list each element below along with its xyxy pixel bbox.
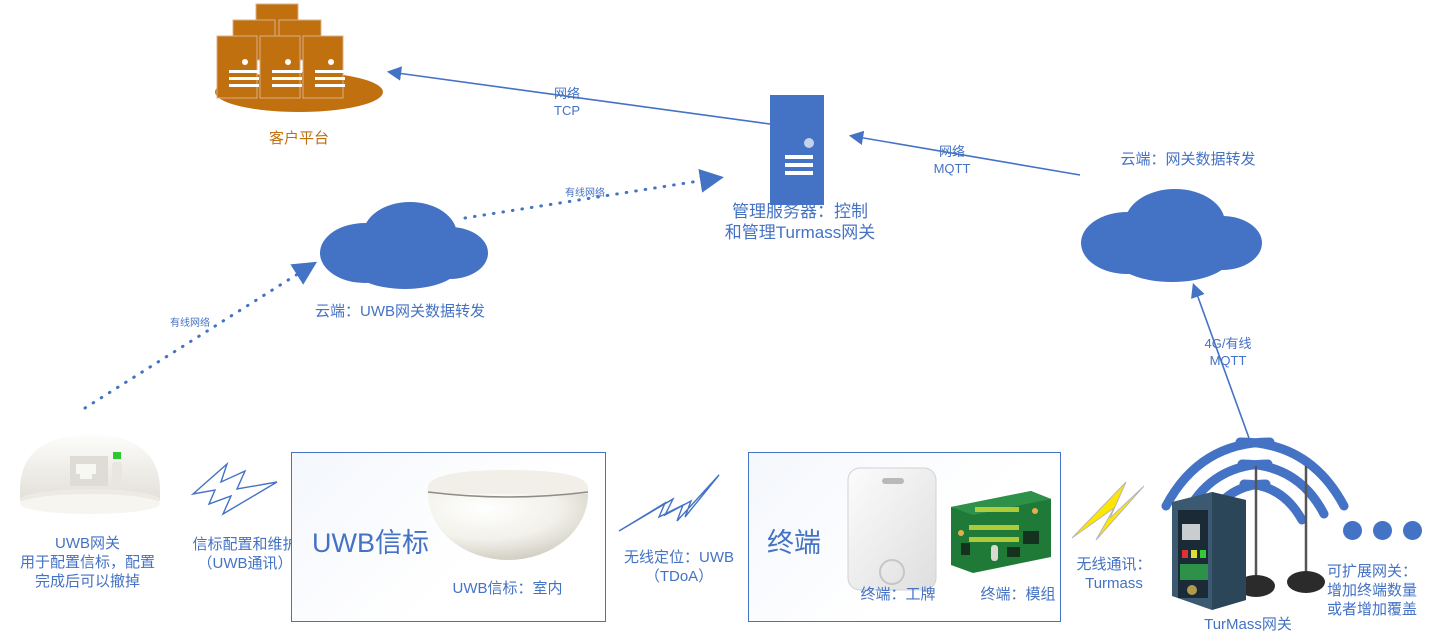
- connection-label-wired-upper: 有线网络: [540, 187, 630, 200]
- connection-label-4g-mqtt: 4G/有线 MQTT: [1182, 336, 1274, 370]
- customer-platform-icon: [215, 4, 435, 134]
- connection-label-wired-lower: 有线网络: [145, 317, 235, 330]
- expandable-gateway-label: 可扩展网关： 增加终端数量 或者增加覆盖: [1327, 563, 1434, 619]
- lightning-bolt-uwb-positioning-icon: [615, 473, 725, 533]
- cloud-left-label: 云端：UWB网关数据转发: [280, 303, 520, 322]
- uwb-gateway-label: UWB网关 用于配置信标，配置 完成后可以撤掉: [0, 535, 175, 591]
- terminal-badge-icon: [842, 464, 952, 604]
- ellipsis-dot-3: [1403, 521, 1422, 540]
- turmass-gateway-icon: [1160, 428, 1350, 628]
- connection-label-mqtt: 网络 MQTT: [912, 144, 992, 178]
- wireless-label-uwb-positioning: 无线定位：UWB （TDoA）: [605, 549, 753, 587]
- diagram-canvas: 客户平台 管理服务器：控制 和管理Turmass网关 云端：UWB网关数据转发 …: [0, 0, 1434, 643]
- lightning-bolt-turmass-icon: [1070, 478, 1160, 543]
- uwb-beacon-heading: UWB信标: [312, 521, 429, 560]
- line-uwbgw-to-cloudleft: [85, 265, 312, 408]
- terminal-module-icon: [947, 485, 1057, 580]
- cloud-right-icon: [1072, 185, 1272, 290]
- management-server-label: 管理服务器：控制 和管理Turmass网关: [680, 201, 920, 244]
- turmass-gateway-label: TurMass网关: [1173, 616, 1323, 635]
- lightning-bolt-beacon-config-icon: [185, 462, 295, 522]
- connection-label-tcp: 网络 TCP: [527, 86, 607, 120]
- uwb-beacon-caption: UWB信标：室内: [420, 580, 595, 599]
- terminal-heading: 终端: [767, 521, 821, 560]
- uwb-gateway-icon: [12, 428, 182, 528]
- customer-platform-label: 客户平台: [229, 127, 369, 148]
- uwb-beacon-icon: [420, 462, 600, 572]
- ellipsis-dot-2: [1373, 521, 1392, 540]
- cloud-left-icon: [310, 195, 490, 295]
- ellipsis-dot-1: [1343, 521, 1362, 540]
- cloud-right-label: 云端：网关数据转发: [1073, 151, 1303, 170]
- wireless-label-turmass: 无线通讯： Turmass: [1058, 556, 1170, 594]
